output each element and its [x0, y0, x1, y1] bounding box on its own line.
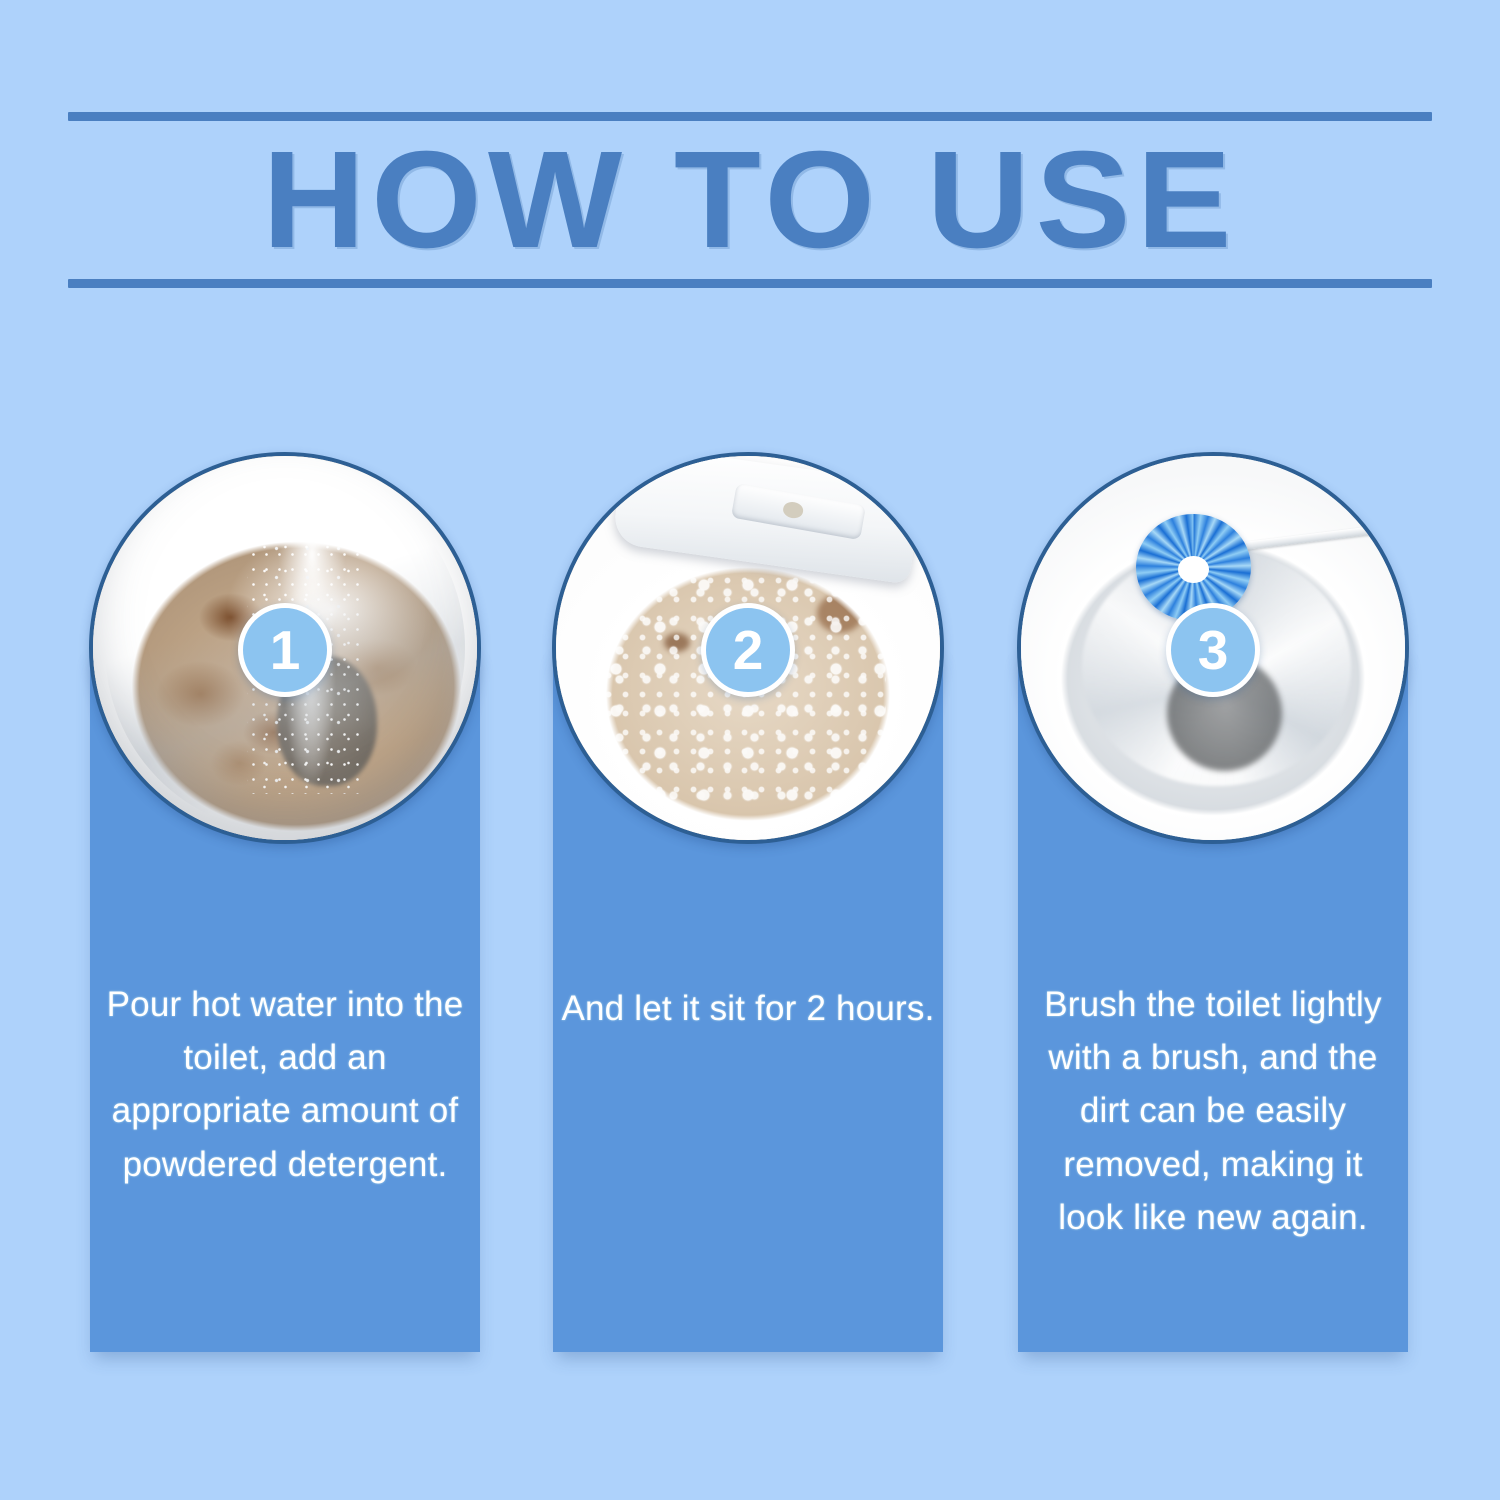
brush-core-icon — [1178, 556, 1209, 583]
step-card-3: 3 Brush the toilet lightly with a brush,… — [1018, 648, 1408, 1352]
step-number-badge-1: 1 — [238, 603, 332, 697]
how-to-use-infographic: HOW TO USE 1 Pour hot water into the toi… — [0, 0, 1500, 1500]
step-number-badge-2: 2 — [701, 603, 795, 697]
step-card-1: 1 Pour hot water into the toilet, add an… — [90, 648, 480, 1352]
step-3-caption: Brush the toilet lightly with a brush, a… — [1026, 978, 1400, 1244]
step-number-badge-3: 3 — [1166, 603, 1260, 697]
step-1-caption: Pour hot water into the toilet, add an a… — [98, 978, 472, 1191]
step-2-caption: And let it sit for 2 hours. — [561, 982, 935, 1035]
step-card-2: 2 And let it sit for 2 hours. — [553, 648, 943, 1352]
steps-row: 1 Pour hot water into the toilet, add an… — [0, 0, 1500, 1500]
